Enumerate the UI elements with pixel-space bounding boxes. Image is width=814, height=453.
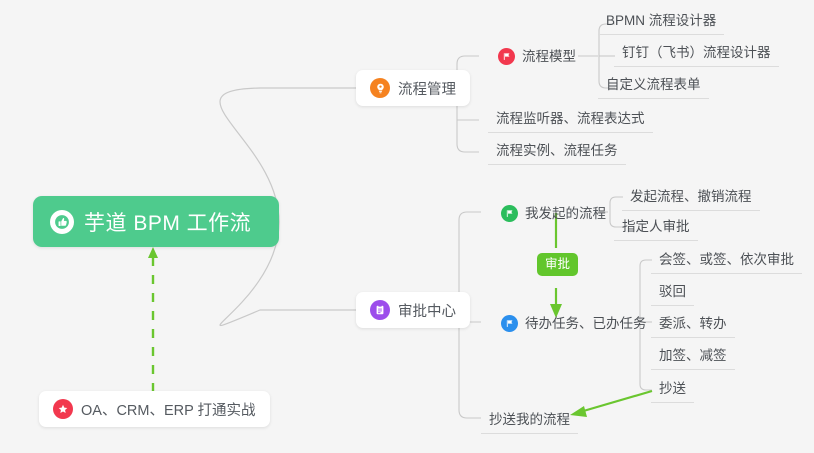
node-process-instance-task[interactable]: 流程实例、流程任务 xyxy=(488,140,626,165)
flag-icon xyxy=(501,315,518,332)
branch-node-approval-center[interactable]: 审批中心 xyxy=(356,292,470,328)
branch-node-process-management[interactable]: 流程管理 xyxy=(356,70,470,106)
node-label-integration-practice: OA、CRM、ERP 打通实战 xyxy=(81,399,256,420)
branch-label-approval-center: 审批中心 xyxy=(398,300,456,321)
node-add-remove-sign[interactable]: 加签、减签 xyxy=(651,345,735,370)
node-start-cancel-process[interactable]: 发起流程、撤销流程 xyxy=(622,186,760,211)
flag-icon xyxy=(498,48,515,65)
node-dingtalk-feishu-designer[interactable]: 钉钉（飞书）流程设计器 xyxy=(614,42,779,67)
root-label: 芋道 BPM 工作流 xyxy=(84,207,251,237)
node-delegate-transfer[interactable]: 委派、转办 xyxy=(651,313,735,338)
node-assignee-approval[interactable]: 指定人审批 xyxy=(614,216,698,241)
document-icon xyxy=(370,300,390,320)
thumbs-up-icon xyxy=(50,210,74,234)
node-custom-process-form[interactable]: 自定义流程表单 xyxy=(598,74,709,99)
node-cc-to-me-process[interactable]: 抄送我的流程 xyxy=(481,409,578,434)
flag-icon xyxy=(501,205,518,222)
root-node[interactable]: 芋道 BPM 工作流 xyxy=(33,196,279,247)
node-process-listener-expression[interactable]: 流程监听器、流程表达式 xyxy=(488,108,653,133)
mindmap-canvas: 芋道 BPM 工作流 流程管理 流程模型 BPMN 流程设计器 钉钉（飞书）流程… xyxy=(0,0,814,453)
node-my-initiated-process[interactable]: 我发起的流程 xyxy=(493,203,614,224)
node-reject[interactable]: 驳回 xyxy=(651,281,694,306)
node-todo-done-tasks[interactable]: 待办任务、已办任务 xyxy=(493,313,655,334)
cc-relation-arrow xyxy=(570,391,652,417)
node-countersign-orsign-sequential[interactable]: 会签、或签、依次审批 xyxy=(651,249,802,274)
integration-arrow xyxy=(148,247,158,392)
lightbulb-icon xyxy=(370,78,390,98)
node-process-model[interactable]: 流程模型 xyxy=(490,46,584,67)
branch-label-process-management: 流程管理 xyxy=(398,78,456,99)
star-icon xyxy=(53,399,73,419)
node-label-todo-done-tasks: 待办任务、已办任务 xyxy=(525,315,647,332)
node-integration-practice[interactable]: OA、CRM、ERP 打通实战 xyxy=(39,391,270,427)
node-cc[interactable]: 抄送 xyxy=(651,378,694,403)
node-bpmn-designer[interactable]: BPMN 流程设计器 xyxy=(598,10,724,35)
approval-badge[interactable]: 审批 xyxy=(537,253,578,276)
node-label-process-model: 流程模型 xyxy=(522,48,576,65)
node-label-my-initiated-process: 我发起的流程 xyxy=(525,205,606,222)
